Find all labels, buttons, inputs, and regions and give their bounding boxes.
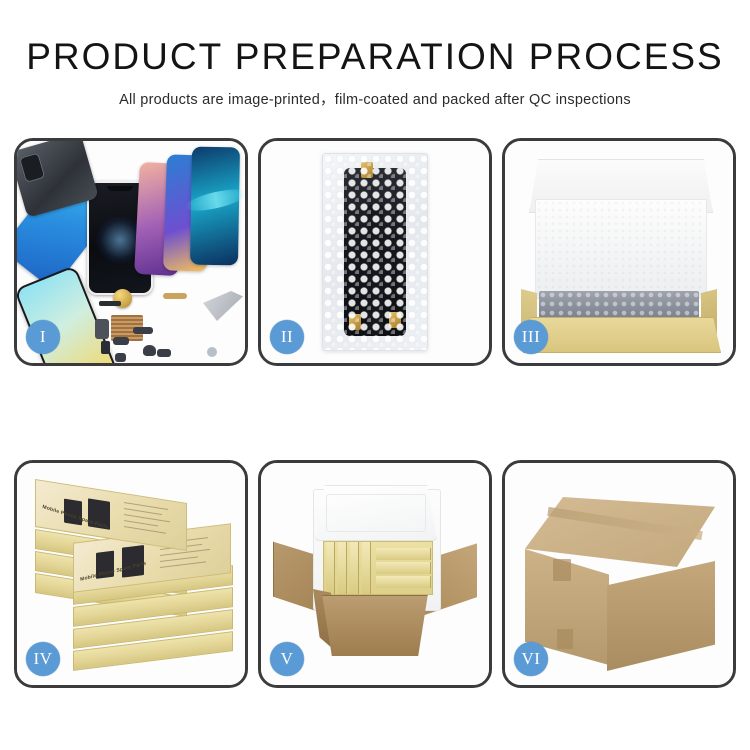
white-foam-sheet-icon <box>535 199 707 299</box>
page-title: PRODUCT PREPARATION PROCESS <box>0 38 750 75</box>
part-gold-contact-icon <box>163 293 187 299</box>
step-badge-5: V <box>270 642 304 676</box>
step-badge-6: VI <box>514 642 548 676</box>
part-frame-icon <box>95 319 109 339</box>
process-step-3: III <box>502 138 736 366</box>
inner-boxes-icon <box>323 541 433 595</box>
part-bracket-icon <box>157 349 171 357</box>
screwdriver-icon <box>203 291 243 321</box>
carton-front-icon <box>315 595 435 656</box>
teal-phone-icon <box>190 147 240 266</box>
step-badge-3: III <box>514 320 548 354</box>
header: PRODUCT PREPARATION PROCESS All products… <box>0 0 750 109</box>
part-cable-icon <box>133 327 153 334</box>
process-step-grid: I II <box>14 138 736 688</box>
product-preparation-infographic: PRODUCT PREPARATION PROCESS All products… <box>0 0 750 750</box>
process-step-2: II <box>258 138 492 366</box>
step-badge-2: II <box>270 320 304 354</box>
tape-patch-bottom-icon <box>557 629 573 649</box>
process-step-6: VI <box>502 460 736 688</box>
part-button-icon <box>115 353 126 362</box>
box-front-panel-icon <box>523 317 721 353</box>
part-speaker-icon <box>143 345 156 356</box>
bubble-wrap-bag-icon <box>322 153 428 351</box>
process-step-1: I <box>14 138 248 366</box>
bubble-texture-overlay-icon <box>323 154 427 350</box>
carton-right-face-icon <box>607 561 715 671</box>
styrofoam-lid-icon <box>315 485 437 541</box>
process-step-4: Mobile Phone Spare Parts Mobile Phone Sp… <box>14 460 248 688</box>
page-subtitle: All products are image-printed，film-coat… <box>0 88 750 109</box>
process-step-5: V <box>258 460 492 688</box>
part-screw-icon <box>207 347 217 357</box>
step-badge-4: IV <box>26 642 60 676</box>
notch-icon <box>107 186 133 191</box>
part-strip-icon <box>99 301 121 306</box>
step-badge-1: I <box>26 320 60 354</box>
part-flex-icon <box>113 337 129 345</box>
tape-patch-top-icon <box>553 559 571 581</box>
part-chip-icon <box>101 341 110 354</box>
